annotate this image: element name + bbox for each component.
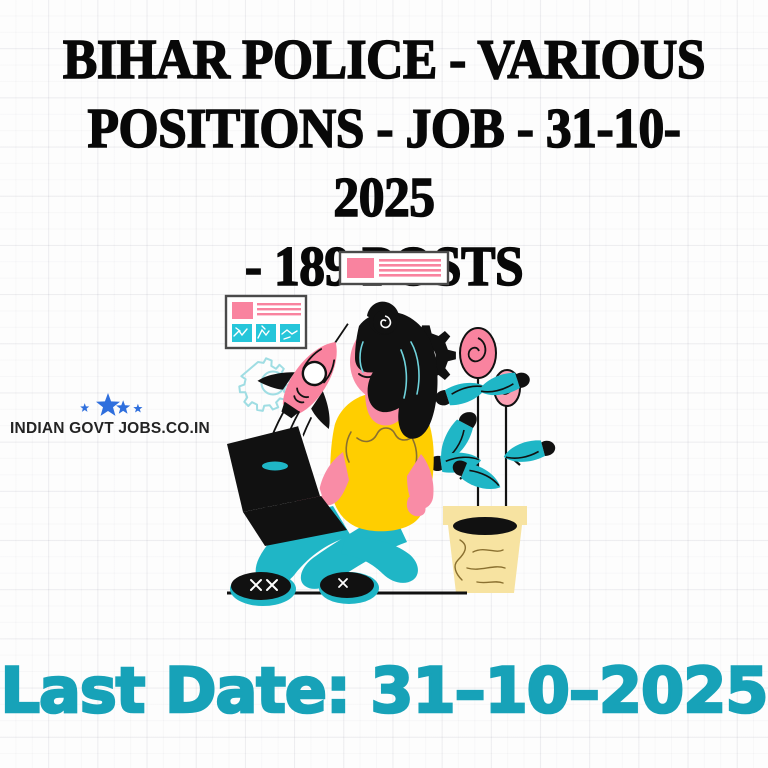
headline-line-2: POSITIONS - JOB - 31-10-2025 bbox=[88, 98, 681, 229]
logo-text: INDIAN GOVT JOBS.CO.IN bbox=[6, 420, 214, 438]
last-date-text: Last Date: 31–10–2025 bbox=[1, 654, 768, 727]
last-date-banner: Last Date: 31–10–2025 bbox=[0, 655, 768, 727]
site-logo[interactable]: INDIAN GOVT JOBS.CO.IN bbox=[6, 392, 214, 438]
illustration-woman-working-on-laptop bbox=[215, 238, 565, 628]
headline-line-1: BIHAR POLICE - VARIOUS bbox=[63, 29, 705, 91]
flower-pot bbox=[443, 506, 527, 593]
potted-plant bbox=[428, 328, 557, 593]
job-poster: BIHAR POLICE - VARIOUS POSITIONS - JOB -… bbox=[0, 0, 768, 768]
ui-card-top bbox=[340, 252, 448, 284]
flower-pink-large bbox=[460, 328, 496, 378]
ui-card-left bbox=[226, 296, 306, 348]
plant-leaves bbox=[428, 367, 557, 495]
four-stars-icon bbox=[6, 392, 214, 418]
